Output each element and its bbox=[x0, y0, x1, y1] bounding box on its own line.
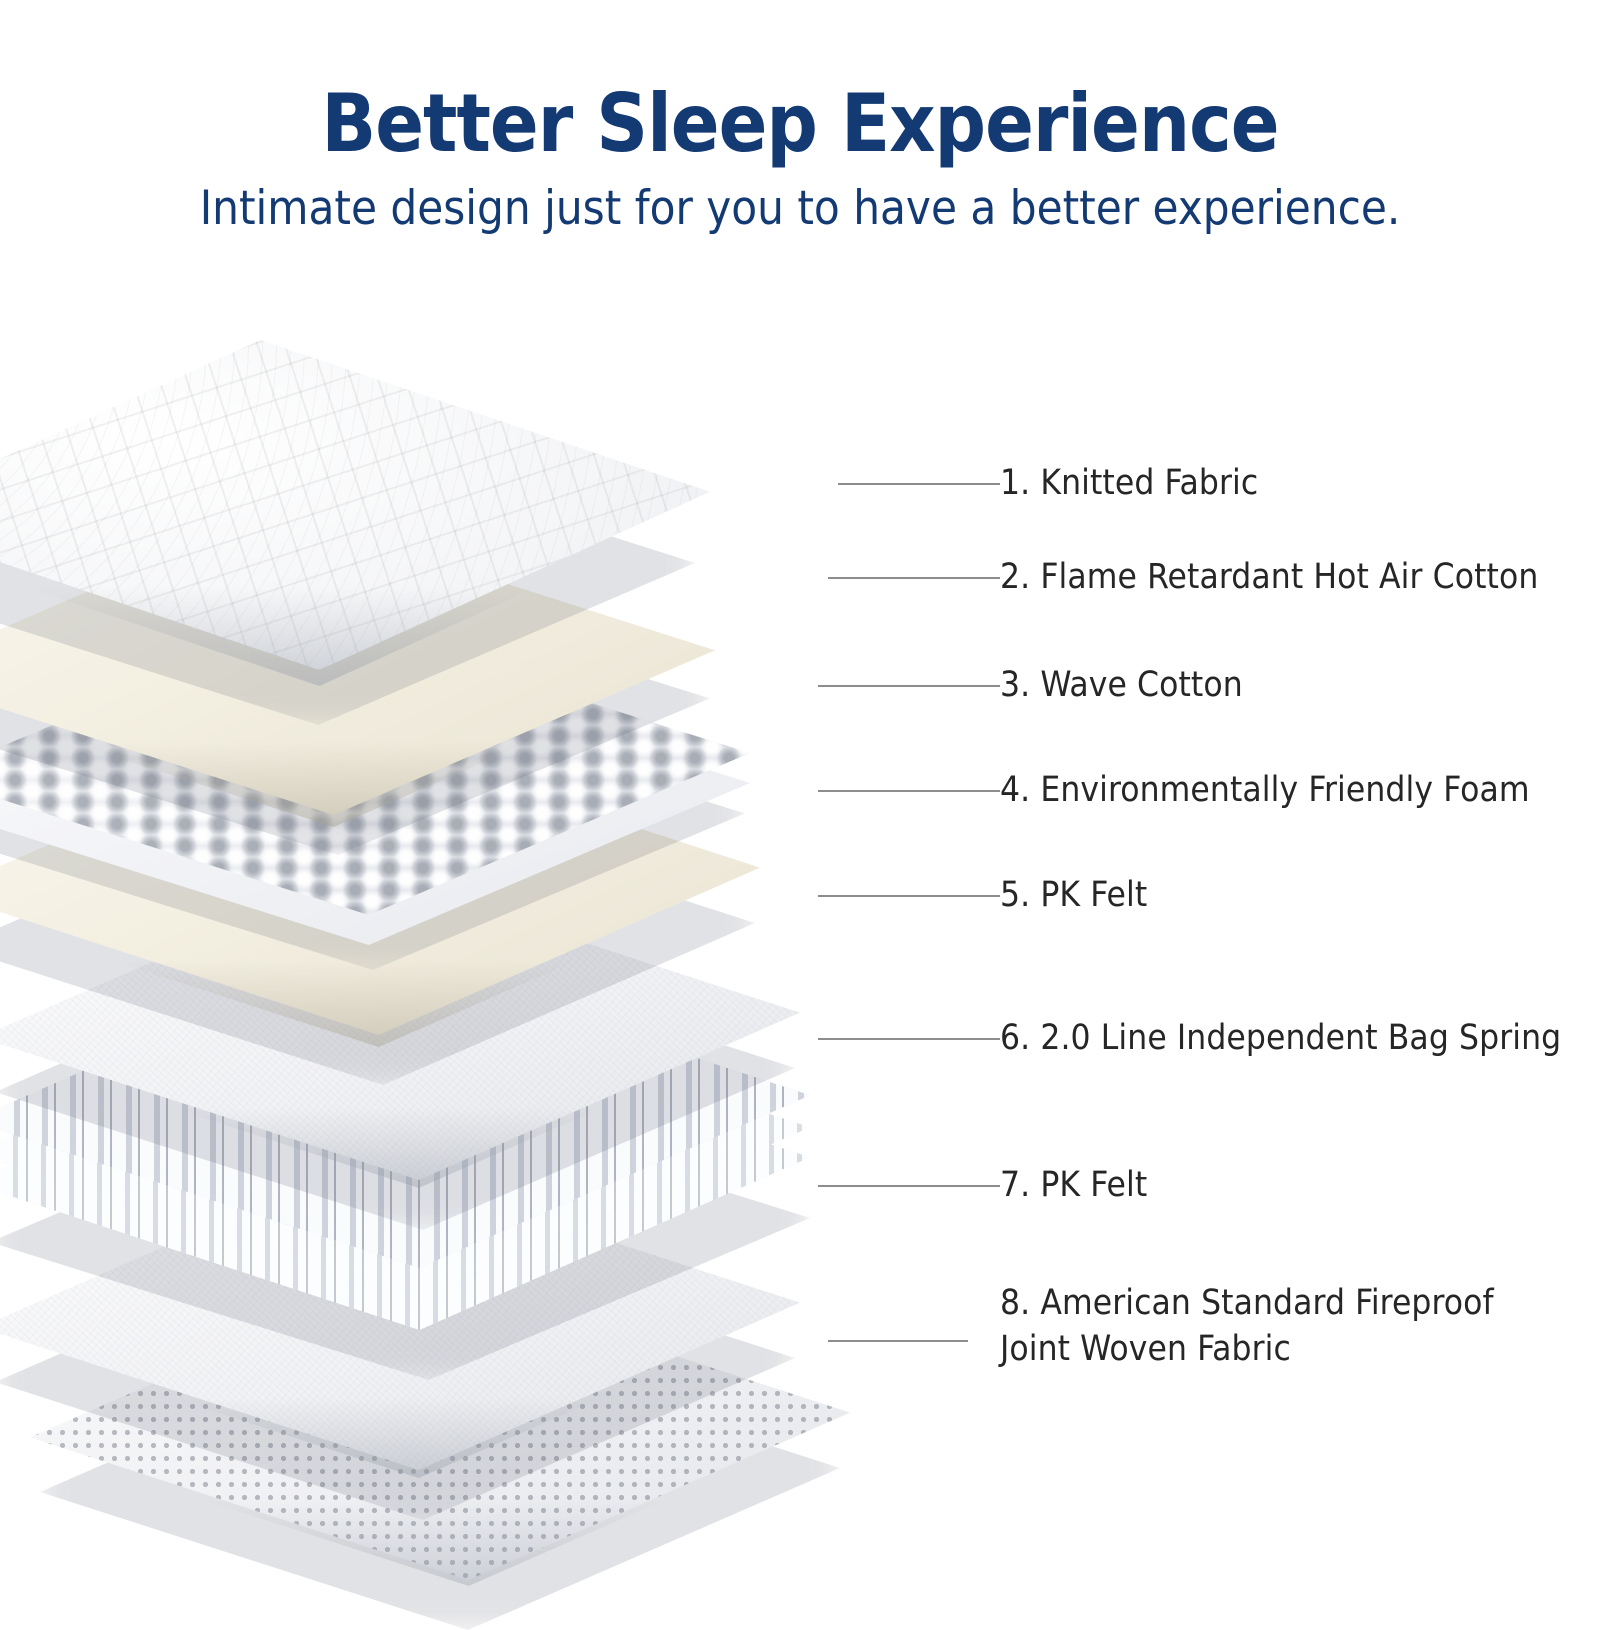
layer-label-8: 8. American Standard Fireproof Joint Wov… bbox=[1000, 1280, 1494, 1372]
leader-line-4 bbox=[818, 790, 1000, 792]
leader-line-6 bbox=[818, 1038, 1000, 1040]
leader-line-8 bbox=[828, 1340, 968, 1342]
leader-line-3 bbox=[818, 685, 1000, 687]
leader-line-5 bbox=[818, 895, 1000, 897]
layer-label-2: 2. Flame Retardant Hot Air Cotton bbox=[1000, 554, 1538, 600]
mattress-exploded-diagram: 1. Knitted Fabric 2. Flame Retardant Hot… bbox=[0, 320, 1600, 1600]
leader-line-7 bbox=[818, 1185, 1000, 1187]
header: Better Sleep Experience Intimate design … bbox=[0, 0, 1600, 236]
layer-label-1: 1. Knitted Fabric bbox=[1000, 460, 1258, 506]
leader-line-2 bbox=[828, 577, 1000, 579]
layer-label-4: 4. Environmentally Friendly Foam bbox=[1000, 767, 1530, 813]
layer-label-6: 6. 2.0 Line Independent Bag Spring bbox=[1000, 1015, 1561, 1061]
layer-label-5: 5. PK Felt bbox=[1000, 872, 1147, 918]
page-title: Better Sleep Experience bbox=[0, 82, 1600, 166]
leader-line-1 bbox=[838, 483, 1000, 485]
layer-label-3: 3. Wave Cotton bbox=[1000, 662, 1243, 708]
layer-label-7: 7. PK Felt bbox=[1000, 1162, 1147, 1208]
page-subtitle: Intimate design just for you to have a b… bbox=[0, 182, 1600, 236]
